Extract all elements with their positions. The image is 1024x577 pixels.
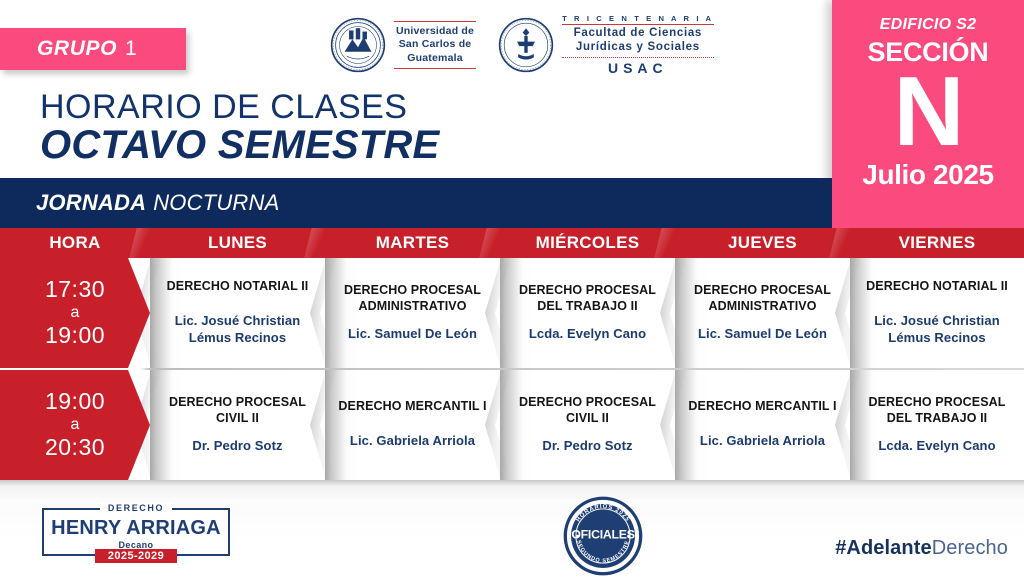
schedule-poster: GRUPO 1 HORARIO DE CLASES OCTAVO SEMESTR… [0, 0, 1024, 577]
stamp-center-text: OFICIALES [571, 527, 634, 541]
table-column-header: JUEVES [675, 228, 850, 258]
time-slot-cell: 19:00a20:30 [0, 370, 150, 480]
course-name: DERECHO MERCANTIL I [338, 398, 486, 414]
class-cell: DERECHO NOTARIAL IILic. Josué Christian … [150, 258, 325, 368]
hashtag-light: Derecho [932, 537, 1008, 559]
class-cell: DERECHO PROCESAL DEL TRABAJO IILcda. Eve… [500, 258, 675, 368]
time-separator: a [71, 416, 80, 435]
course-name: DERECHO PROCESAL ADMINISTRATIVO [335, 282, 490, 314]
table-column-header: MIÉRCOLES [500, 228, 675, 258]
decano-name: HENRY ARRIAGA [51, 518, 221, 538]
title-line-2: OCTAVO SEMESTRE [40, 124, 439, 166]
column-header-label: JUEVES [728, 233, 797, 253]
instructor-name: Dr. Pedro Sotz [542, 438, 632, 455]
course-name: DERECHO PROCESAL ADMINISTRATIVO [685, 282, 840, 314]
instructor-name: Lcda. Evelyn Cano [529, 326, 646, 343]
course-name: DERECHO PROCESAL DEL TRABAJO II [860, 394, 1014, 426]
class-cell: DERECHO PROCESAL DEL TRABAJO IILcda. Eve… [850, 370, 1024, 480]
faculty-logo: T R I C E N T E N A R I A Facultad de Ci… [498, 14, 714, 76]
group-badge-word: GRUPO [37, 37, 117, 61]
group-badge-number: 1 [125, 37, 137, 61]
instructor-name: Lic. Samuel De León [698, 326, 827, 343]
course-name: DERECHO PROCESAL CIVIL II [510, 394, 665, 426]
faculty-name: Facultad de Ciencias Jurídicas y Sociale… [562, 24, 714, 58]
faculty-logo-text: T R I C E N T E N A R I A Facultad de Ci… [562, 14, 714, 76]
decano-logo: DERECHO HENRY ARRIAGA Decano 2025-2029 [42, 508, 230, 556]
course-name: DERECHO MERCANTIL I [688, 398, 836, 414]
table-column-header: MARTES [325, 228, 500, 258]
faculty-seal-icon [498, 17, 554, 73]
jornada-label: JORNADA [36, 190, 146, 216]
usac-text-line-2: San Carlos de [396, 38, 474, 51]
table-column-header: VIERNES [850, 228, 1024, 258]
hashtag-bold: #Adelante [835, 537, 932, 559]
course-name: DERECHO PROCESAL DEL TRABAJO II [510, 282, 665, 314]
class-cell: DERECHO NOTARIAL IILic. Josué Christian … [850, 258, 1024, 368]
official-stamp-icon: HORARIOS 2025 SEGUNDO SEMESTRE OFICIALES [562, 495, 644, 577]
usac-seal-icon [330, 17, 386, 73]
schedule-table: HORALUNESMARTESMIÉRCOLESJUEVESVIERNES 17… [0, 228, 1024, 480]
course-name: DERECHO NOTARIAL II [866, 278, 1008, 294]
instructor-name: Lic. Josué Christian Lémus Recinos [860, 313, 1014, 346]
instructor-name: Lic. Gabriela Arriola [700, 433, 825, 450]
instructor-name: Dr. Pedro Sotz [192, 438, 282, 455]
time-end: 19:00 [45, 322, 105, 349]
column-header-label: HORA [49, 233, 100, 253]
institution-logos: Universidad de San Carlos de Guatemala T… [330, 14, 714, 76]
instructor-name: Lcda. Evelyn Cano [878, 438, 995, 455]
jornada-value: NOCTURNA [153, 190, 279, 216]
table-body: 17:30a19:00DERECHO NOTARIAL IILic. Josué… [0, 258, 1024, 480]
time-slot-cell: 17:30a19:00 [0, 258, 150, 368]
hashtag-slogan: #AdelanteDerecho [835, 537, 1008, 560]
tricentenaria-label: T R I C E N T E N A R I A [562, 14, 714, 23]
month-label: Julio 2025 [862, 159, 993, 191]
column-header-label: LUNES [208, 233, 267, 253]
instructor-name: Lic. Gabriela Arriola [350, 433, 475, 450]
usac-logo-text: Universidad de San Carlos de Guatemala [394, 21, 476, 69]
usac-acronym: USAC [562, 60, 714, 76]
course-name: DERECHO PROCESAL CIVIL II [160, 394, 315, 426]
class-cell: DERECHO PROCESAL CIVIL IIDr. Pedro Sotz [500, 370, 675, 480]
table-column-header: HORA [0, 228, 150, 258]
faculty-line-1: Facultad de Ciencias [562, 26, 714, 40]
class-cell: DERECHO MERCANTIL ILic. Gabriela Arriola [675, 370, 850, 480]
decano-term-years: 2025-2029 [95, 549, 177, 563]
building-label: EDIFICIO S2 [880, 16, 977, 34]
time-separator: a [71, 304, 80, 323]
section-panel: EDIFICIO S2 SECCIÓN N Julio 2025 [832, 0, 1024, 228]
class-cell: DERECHO PROCESAL ADMINISTRATIVOLic. Samu… [675, 258, 850, 368]
section-letter: N [894, 66, 963, 157]
instructor-name: Lic. Josué Christian Lémus Recinos [160, 313, 315, 346]
table-header-row: HORALUNESMARTESMIÉRCOLESJUEVESVIERNES [0, 228, 1024, 258]
usac-logo: Universidad de San Carlos de Guatemala [330, 17, 476, 73]
table-row: 17:30a19:00DERECHO NOTARIAL IILic. Josué… [0, 258, 1024, 368]
class-cell: DERECHO PROCESAL CIVIL IIDr. Pedro Sotz [150, 370, 325, 480]
usac-text-line-3: Guatemala [396, 52, 474, 65]
time-start: 17:30 [45, 276, 105, 303]
decano-department: DERECHO [100, 503, 172, 513]
course-name: DERECHO NOTARIAL II [167, 278, 309, 294]
title-line-1: HORARIO DE CLASES [40, 90, 439, 126]
usac-text-line-1: Universidad de [396, 25, 474, 38]
time-start: 19:00 [45, 388, 105, 415]
group-badge: GRUPO 1 [0, 28, 186, 70]
column-header-label: VIERNES [899, 233, 976, 253]
table-row: 19:00a20:30DERECHO PROCESAL CIVIL IIDr. … [0, 370, 1024, 480]
table-column-header: LUNES [150, 228, 325, 258]
jornada-bar: JORNADA NOCTURNA [0, 178, 832, 228]
column-header-label: MARTES [376, 233, 450, 253]
column-header-label: MIÉRCOLES [536, 233, 640, 253]
instructor-name: Lic. Samuel De León [348, 326, 477, 343]
page-title: HORARIO DE CLASES OCTAVO SEMESTRE [40, 90, 439, 166]
time-end: 20:30 [45, 434, 105, 461]
class-cell: DERECHO PROCESAL ADMINISTRATIVOLic. Samu… [325, 258, 500, 368]
faculty-line-2: Jurídicas y Sociales [562, 40, 714, 54]
class-cell: DERECHO MERCANTIL ILic. Gabriela Arriola [325, 370, 500, 480]
footer-divider [0, 480, 1024, 486]
